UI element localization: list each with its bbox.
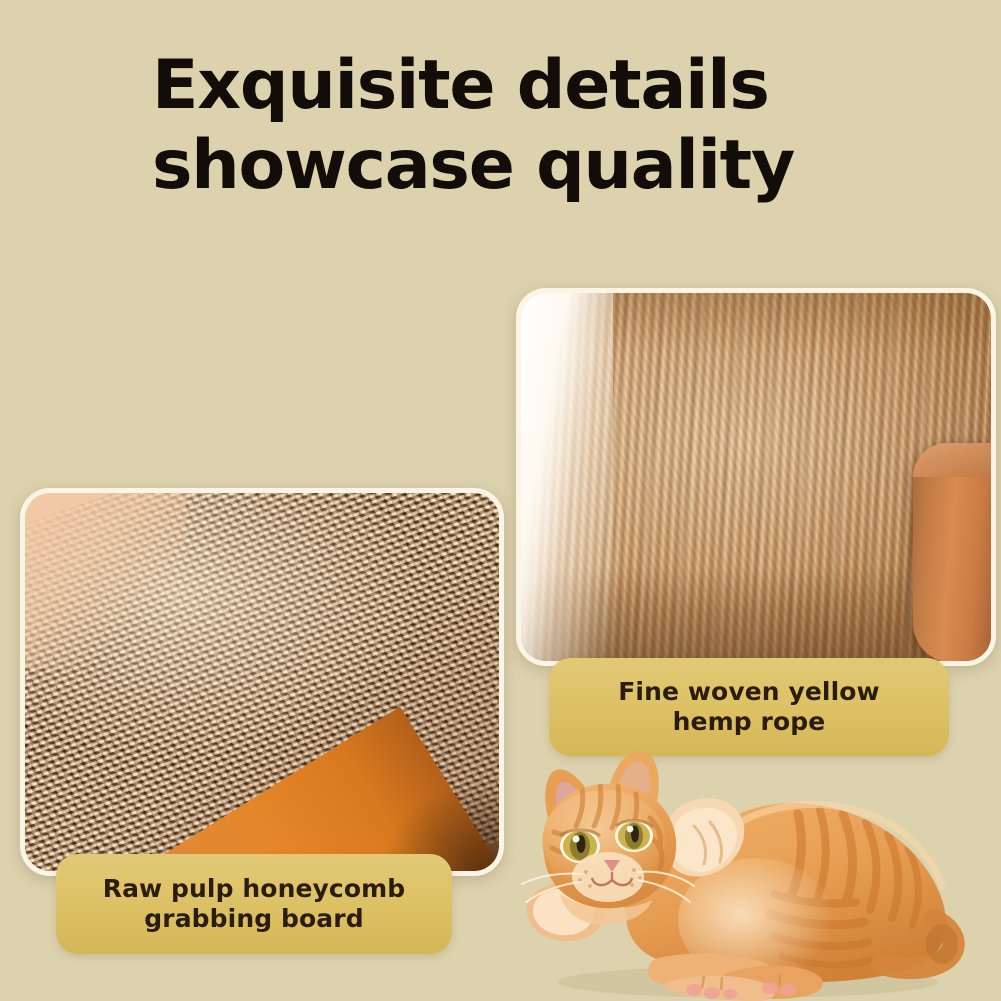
infographic-canvas: Exquisite details showcase quality Fine … <box>0 0 1001 1001</box>
honeycomb-corner-highlight <box>25 493 186 669</box>
hemp-rope-caption-line-2: hemp rope <box>618 707 880 738</box>
honeycomb-board-photo-frame <box>20 488 504 876</box>
hemp-rope-closeup-photo <box>521 293 991 661</box>
honeycomb-cardboard-closeup-photo <box>25 493 499 871</box>
rope-left-highlight <box>521 293 613 661</box>
page-title-line-1: Exquisite details <box>152 46 912 126</box>
honeycomb-board-caption: Raw pulp honeycomb grabbing board <box>56 854 452 954</box>
hemp-rope-photo-frame <box>516 288 996 666</box>
honeycomb-board-caption-line-1: Raw pulp honeycomb <box>103 874 406 905</box>
honeycomb-board-caption-line-2: grabbing board <box>103 904 406 935</box>
cat-muzzle <box>572 852 644 902</box>
hemp-rope-caption: Fine woven yellow hemp rope <box>549 658 949 756</box>
orange-tabby-cat-photo <box>498 744 988 1001</box>
hemp-rope-caption-line-1: Fine woven yellow <box>618 677 880 708</box>
page-title: Exquisite details showcase quality <box>152 46 912 206</box>
page-title-line-2: showcase quality <box>152 126 912 206</box>
